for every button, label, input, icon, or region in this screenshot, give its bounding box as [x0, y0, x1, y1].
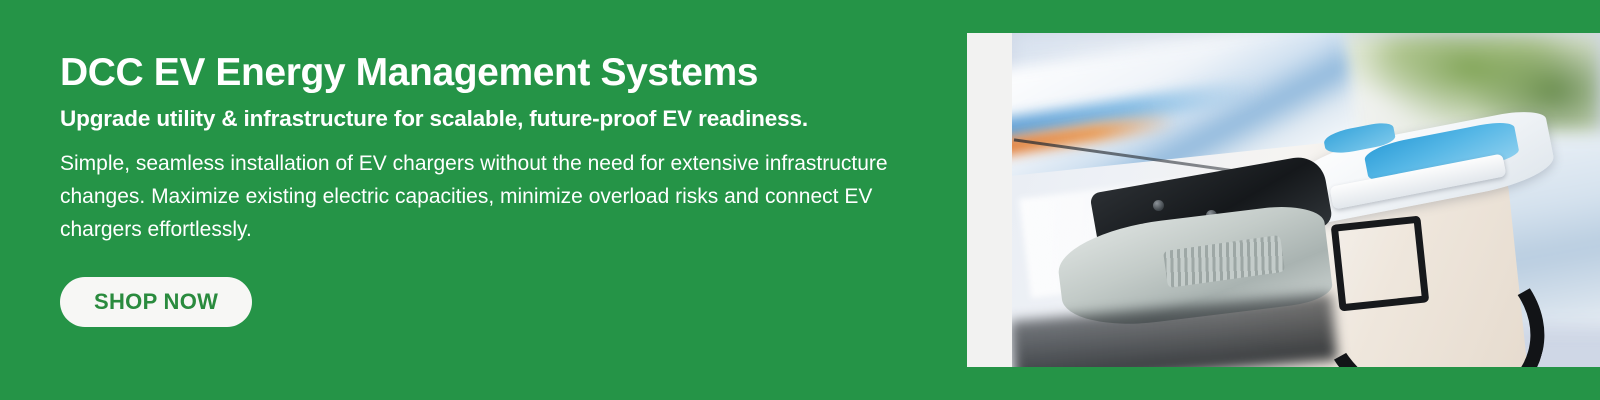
- banner-description: Simple, seamless installation of EV char…: [60, 147, 930, 246]
- page-title: DCC EV Energy Management Systems: [60, 50, 940, 96]
- ev-charging-photo: [1012, 33, 1600, 367]
- banner-copy-block: DCC EV Energy Management Systems Upgrade…: [60, 50, 940, 246]
- banner-media-panel: [967, 33, 1600, 367]
- shop-now-button[interactable]: SHOP NOW: [60, 277, 252, 327]
- media-left-pad: [967, 33, 1012, 367]
- promo-banner: DCC EV Energy Management Systems Upgrade…: [0, 0, 1600, 400]
- banner-subheading: Upgrade utility & infrastructure for sca…: [60, 105, 940, 133]
